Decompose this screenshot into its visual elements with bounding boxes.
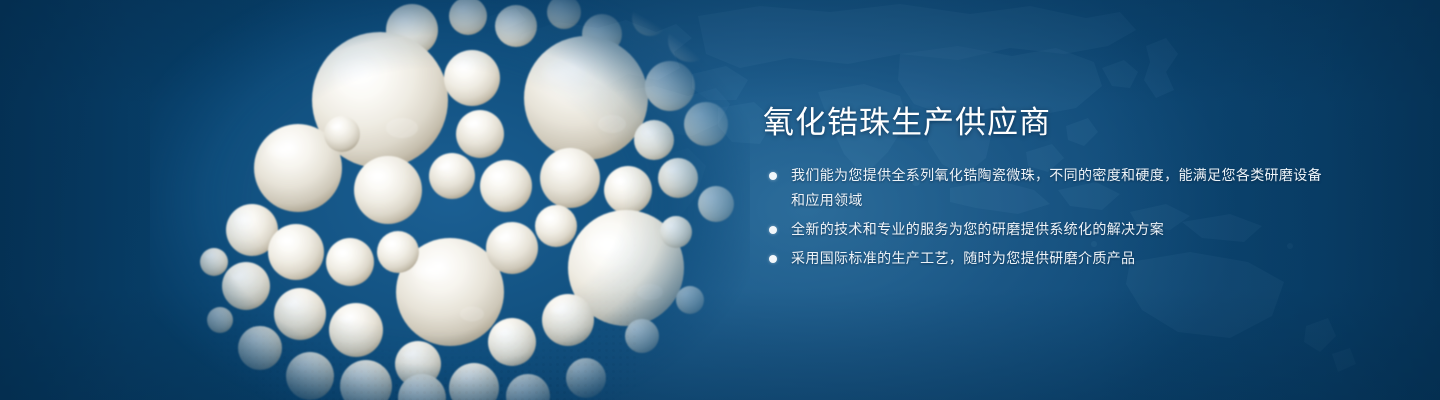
hero-banner: 氧化锆珠生产供应商 我们能为您提供全系列氧化锆陶瓷微珠，不同的密度和硬度，能满足… bbox=[0, 0, 1440, 400]
list-item-label: 我们能为您提供全系列氧化锆陶瓷微珠，不同的密度和硬度，能满足您各类研磨设备和应用… bbox=[791, 167, 1322, 208]
page-title: 氧化锆珠生产供应商 bbox=[763, 106, 1323, 141]
list-item: 采用国际标准的生产工艺，随时为您提供研磨介质产品 bbox=[763, 246, 1323, 271]
list-item: 全新的技术和专业的服务为您的研磨提供系统化的解决方案 bbox=[763, 217, 1323, 242]
list-item-label: 采用国际标准的生产工艺，随时为您提供研磨介质产品 bbox=[791, 250, 1135, 266]
bullet-dot-icon bbox=[769, 226, 777, 234]
list-item-label: 全新的技术和专业的服务为您的研磨提供系统化的解决方案 bbox=[791, 221, 1164, 237]
banner-copy: 氧化锆珠生产供应商 我们能为您提供全系列氧化锆陶瓷微珠，不同的密度和硬度，能满足… bbox=[763, 106, 1323, 271]
feature-list: 我们能为您提供全系列氧化锆陶瓷微珠，不同的密度和硬度，能满足您各类研磨设备和应用… bbox=[763, 163, 1323, 271]
bullet-dot-icon bbox=[769, 172, 777, 180]
bullet-dot-icon bbox=[769, 255, 777, 263]
list-item: 我们能为您提供全系列氧化锆陶瓷微珠，不同的密度和硬度，能满足您各类研磨设备和应用… bbox=[763, 163, 1323, 213]
